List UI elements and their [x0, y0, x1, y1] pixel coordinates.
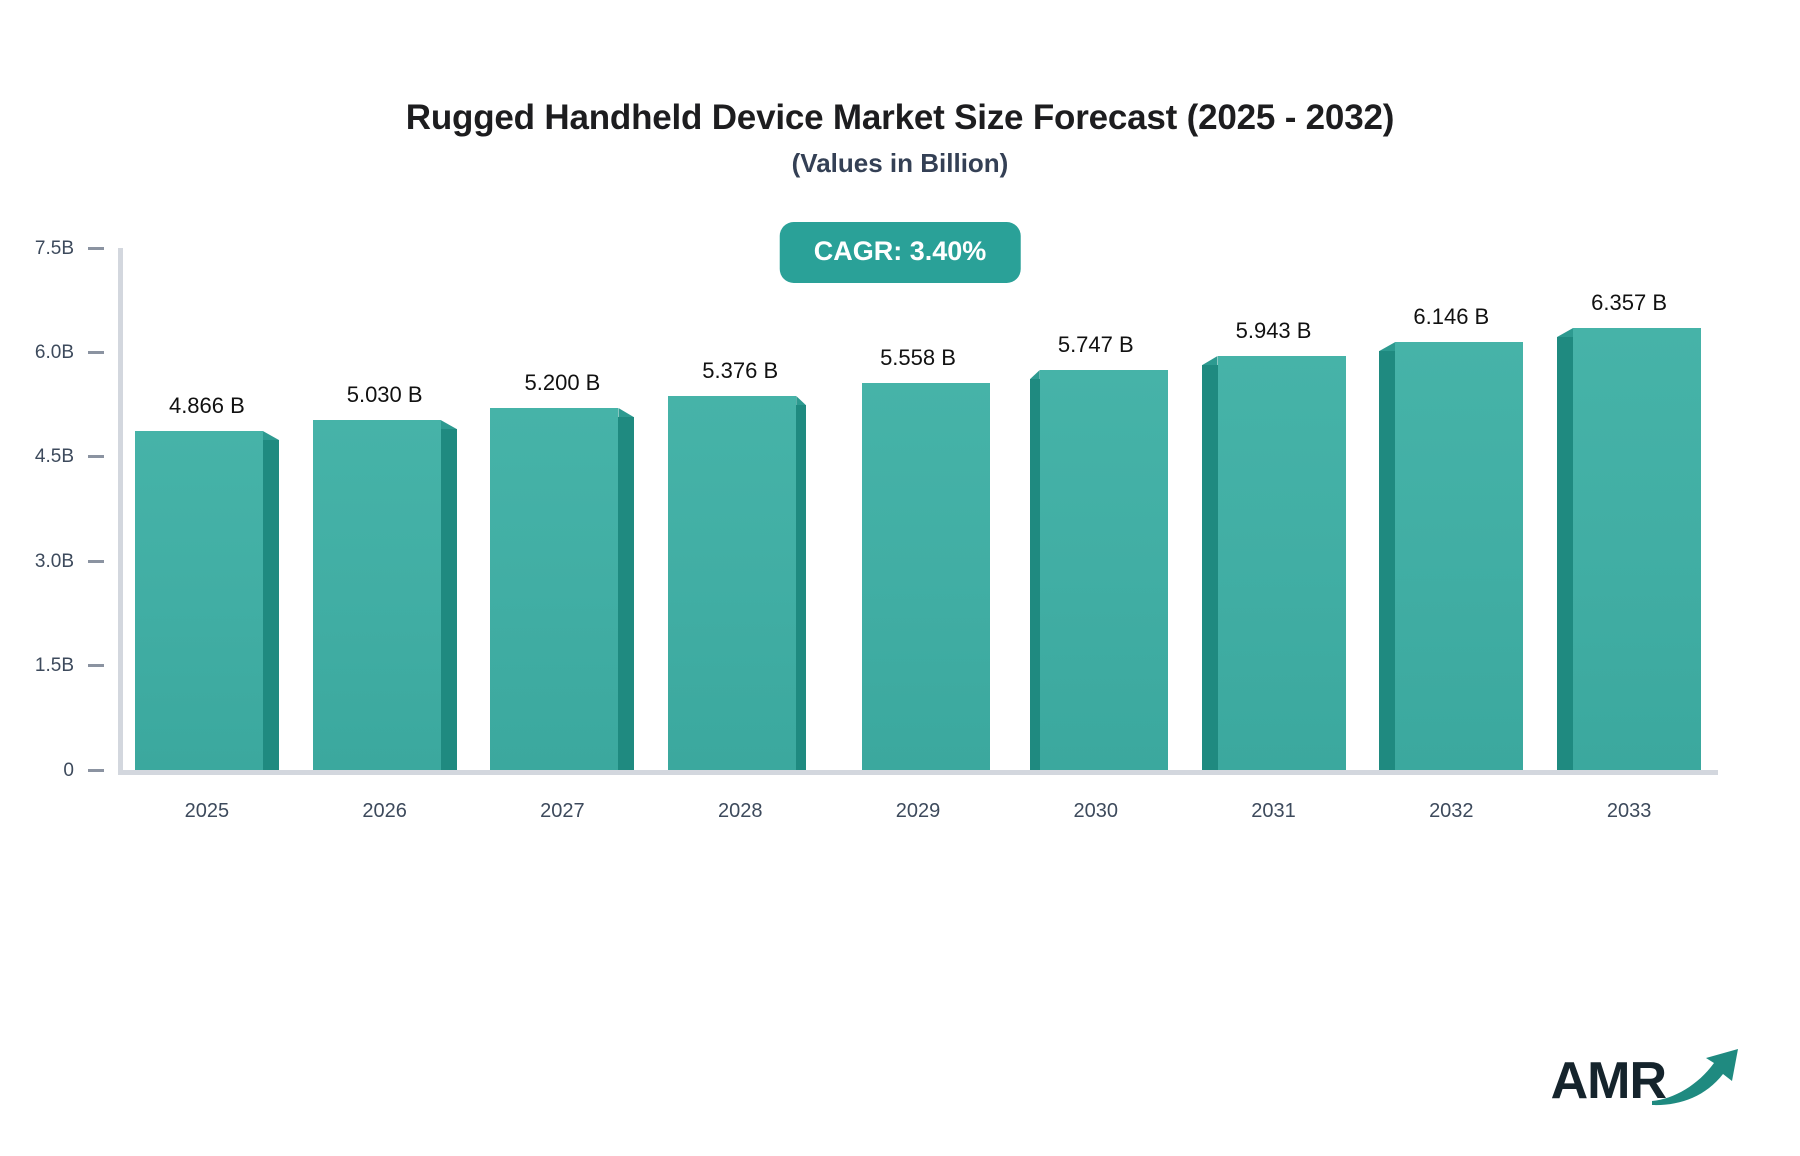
chart-subtitle: (Values in Billion) — [0, 148, 1800, 179]
bar-top-bevel — [796, 396, 806, 405]
bar-side-panel — [796, 405, 806, 770]
bar-2032[interactable] — [1362, 342, 1540, 770]
y-tick-mark — [88, 351, 104, 354]
growth-arrow-icon — [1648, 1045, 1744, 1112]
x-axis-label: 2033 — [1499, 800, 1759, 823]
plot-area: 01.5B3.0B4.5B6.0B7.5B 4.866 B20255.030 B… — [118, 248, 1718, 770]
bar-face — [862, 383, 990, 770]
bar-2025[interactable] — [118, 431, 296, 770]
bar-column[interactable]: 5.558 B2029 — [829, 248, 1007, 770]
bar-side-panel — [263, 440, 279, 770]
y-tick-label: 7.5B — [35, 239, 74, 258]
bar-column[interactable]: 5.376 B2028 — [651, 248, 829, 770]
bar-2030[interactable] — [1007, 370, 1185, 770]
bar-top-bevel — [1030, 370, 1040, 379]
bar-2026[interactable] — [296, 420, 474, 770]
bar-column[interactable]: 6.357 B2033 — [1540, 248, 1718, 770]
bar-top-bevel — [618, 408, 633, 417]
bar-face — [1040, 370, 1168, 770]
bar-side-panel — [1379, 351, 1395, 770]
bar-side-panel — [441, 429, 457, 770]
bar-top-bevel — [441, 420, 457, 429]
y-tick-mark — [88, 455, 104, 458]
bar-value-label: 6.357 B — [1499, 290, 1759, 316]
bar-column[interactable]: 6.146 B2032 — [1362, 248, 1540, 770]
bar-face — [490, 408, 618, 770]
bar-top-bevel — [1379, 342, 1395, 351]
bar-top-bevel — [1557, 328, 1573, 337]
page-title: Rugged Handheld Device Market Size Forec… — [0, 98, 1800, 138]
bar-face — [313, 420, 441, 770]
chart-page: Rugged Handheld Device Market Size Forec… — [0, 0, 1800, 1156]
bar-face — [1395, 342, 1523, 770]
bar-face — [668, 396, 796, 770]
bar-2027[interactable] — [474, 408, 652, 770]
bar-top-bevel — [1202, 356, 1217, 365]
bar-side-panel — [1202, 365, 1217, 770]
bar-face — [135, 431, 263, 770]
y-tick-mark — [88, 560, 104, 563]
y-tick-mark — [88, 664, 104, 667]
y-tick-label: 1.5B — [35, 656, 74, 675]
bar-side-panel — [1030, 379, 1040, 770]
bar-2031[interactable] — [1185, 356, 1363, 770]
bar-face — [1573, 328, 1701, 770]
bar-2029[interactable] — [829, 383, 1007, 770]
bar-2033[interactable] — [1540, 328, 1718, 770]
y-tick-label: 3.0B — [35, 552, 74, 571]
bar-face — [1218, 356, 1346, 770]
bar-top-bevel — [263, 431, 279, 440]
bar-column[interactable]: 5.030 B2026 — [296, 248, 474, 770]
bar-side-panel — [1557, 337, 1573, 770]
bar-side-panel — [618, 417, 633, 770]
amr-logo: AMR — [1551, 1045, 1744, 1116]
y-tick-mark — [88, 769, 104, 772]
y-tick-label: 0 — [63, 761, 74, 780]
y-tick-mark — [88, 247, 104, 250]
x-axis-line — [118, 770, 1718, 775]
y-tick-label: 6.0B — [35, 343, 74, 362]
bar-column[interactable]: 5.200 B2027 — [474, 248, 652, 770]
bar-2028[interactable] — [651, 396, 829, 770]
bar-column[interactable]: 4.866 B2025 — [118, 248, 296, 770]
y-tick-label: 4.5B — [35, 447, 74, 466]
